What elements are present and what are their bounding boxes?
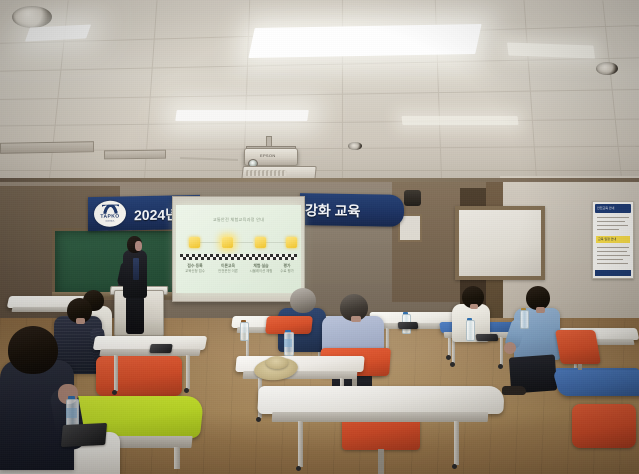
projection-screen-frame: 교통안전 체험교육과정 안내 접수·등록 교육신청 접수 이론교육 안전운전 이… bbox=[172, 196, 305, 302]
projection-screen: 교통안전 체험교육과정 안내 접수·등록 교육신청 접수 이론교육 안전운전 이… bbox=[176, 205, 301, 293]
slide-step-icon bbox=[222, 237, 233, 248]
ceiling-panel-light bbox=[402, 116, 519, 125]
banner-right-text: 강화 교육 bbox=[305, 200, 360, 221]
slide-step-title: 이론교육 bbox=[211, 264, 245, 268]
beige-hat-crown bbox=[266, 356, 288, 369]
tablet-device bbox=[149, 344, 173, 353]
presenter-face bbox=[135, 241, 142, 251]
ceiling-panel-light bbox=[248, 24, 481, 58]
ceiling-vent bbox=[104, 150, 166, 160]
presenter-legs bbox=[126, 296, 144, 334]
tablet-device bbox=[475, 334, 498, 341]
slide-step-label: 체험·실습 시뮬레이션 체험 bbox=[244, 264, 278, 274]
tablet-device bbox=[61, 423, 107, 447]
wall-trim-upper bbox=[0, 178, 639, 182]
ceiling-panel-light bbox=[175, 110, 309, 121]
taxi-checker-band bbox=[180, 254, 297, 260]
tapko-logo-sub: KOREA bbox=[106, 220, 115, 223]
classroom-photo: EPSON TAPKO KOREA 2024년 강화 교육 안전교육 안내 bbox=[0, 0, 639, 474]
ceiling-speaker-icon bbox=[12, 6, 52, 28]
slide-step-sub: 시뮬레이션 체험 bbox=[250, 269, 273, 273]
slide-step-title: 접수·등록 bbox=[178, 264, 212, 268]
ceiling-vent bbox=[0, 141, 94, 154]
shoe bbox=[502, 386, 526, 395]
wall-speaker-icon bbox=[404, 190, 421, 206]
slide-step-icon bbox=[286, 237, 297, 248]
slide-step-sub: 수료 평가 bbox=[280, 269, 293, 273]
slide-step-sub: 교육신청 접수 bbox=[185, 269, 205, 273]
slide-step-icon bbox=[255, 237, 266, 248]
slide-step-label: 평가 수료 평가 bbox=[274, 264, 300, 274]
projector-brand-label: EPSON bbox=[260, 153, 276, 158]
ceiling-speaker-icon bbox=[348, 142, 362, 150]
poster-footer-bar bbox=[595, 270, 631, 276]
poster-header-text: 안전교육 안내 bbox=[597, 206, 614, 210]
slide-step-label: 이론교육 안전운전 이론 bbox=[211, 264, 245, 274]
ac-grill bbox=[246, 170, 287, 176]
slide-step-title: 체험·실습 bbox=[244, 264, 278, 268]
slide-title: 교통안전 체험교육과정 안내 bbox=[176, 217, 301, 223]
person-presenter bbox=[123, 236, 147, 334]
ceiling: EPSON bbox=[0, 0, 639, 196]
slide-step-label: 접수·등록 교육신청 접수 bbox=[178, 264, 212, 274]
ceiling-speaker-icon bbox=[596, 62, 618, 75]
whiteboard bbox=[455, 206, 545, 280]
slide-step-icon bbox=[189, 237, 200, 248]
wall-poster: 안전교육 안내 교육 일정 안내 bbox=[592, 201, 634, 279]
tapko-logo-mark-icon bbox=[102, 205, 119, 214]
banner-right: 강화 교육 bbox=[300, 193, 404, 227]
poster-highlight-text: 교육 일정 안내 bbox=[598, 237, 616, 241]
presenter-tie bbox=[133, 258, 139, 280]
slide-step-title: 평가 bbox=[274, 264, 300, 268]
tapko-logo: TAPKO KOREA bbox=[94, 200, 126, 227]
tablet-device bbox=[398, 322, 419, 329]
slide-step-sub: 안전운전 이론 bbox=[218, 269, 238, 273]
